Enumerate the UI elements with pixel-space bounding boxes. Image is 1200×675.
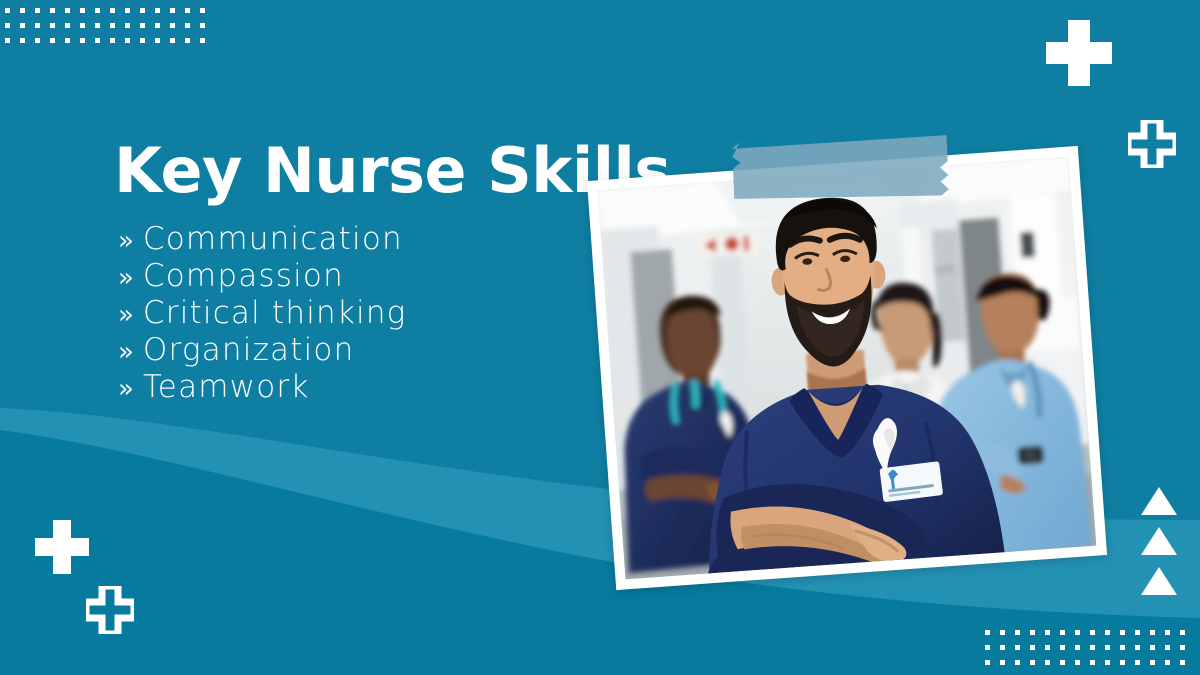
bullet-chevron-icon: »: [118, 372, 134, 407]
dot: [170, 38, 175, 43]
dot: [985, 630, 990, 635]
dot: [20, 38, 25, 43]
dot: [1105, 660, 1110, 665]
skill-item: »Critical thinking: [118, 296, 406, 333]
dot: [50, 23, 55, 28]
washi-tape: [732, 133, 950, 205]
dot: [1135, 630, 1140, 635]
dot: [50, 8, 55, 13]
dot: [1045, 645, 1050, 650]
dot-grid-top-left: [5, 8, 215, 53]
dot: [1060, 630, 1065, 635]
skill-item: »Compassion: [118, 259, 406, 296]
dot: [1180, 645, 1185, 650]
dot: [20, 23, 25, 28]
skill-item: »Teamwork: [118, 370, 406, 407]
dot: [5, 8, 10, 13]
dot: [140, 38, 145, 43]
dot: [1030, 660, 1035, 665]
dot: [1135, 645, 1140, 650]
dot: [1030, 645, 1035, 650]
cross-bar-vertical: [1068, 20, 1090, 86]
dot: [1000, 645, 1005, 650]
dot: [1045, 630, 1050, 635]
cross-outline-top-right-icon: [1128, 120, 1176, 168]
dot: [1150, 645, 1155, 650]
dot: [155, 38, 160, 43]
dot: [1030, 630, 1035, 635]
dot: [1105, 630, 1110, 635]
dot: [110, 23, 115, 28]
dot: [185, 8, 190, 13]
dot: [200, 8, 205, 13]
dot: [65, 23, 70, 28]
cross-outline-shape: [1128, 120, 1176, 168]
dot: [1120, 645, 1125, 650]
dot: [1015, 660, 1020, 665]
dot: [1075, 645, 1080, 650]
dot: [95, 23, 100, 28]
dot: [1165, 630, 1170, 635]
skill-item: »Communication: [118, 222, 406, 259]
bullet-chevron-icon: »: [118, 261, 134, 296]
dot: [1000, 630, 1005, 635]
dot: [20, 8, 25, 13]
dot: [5, 38, 10, 43]
cross-outline-bottom-left-icon: [86, 586, 134, 634]
dot: [200, 38, 205, 43]
dot: [125, 8, 130, 13]
dot: [110, 38, 115, 43]
dot: [1105, 645, 1110, 650]
cross-solid-bottom-left-icon: [35, 520, 89, 574]
cross-outline-shape: [86, 586, 134, 634]
dot: [1045, 660, 1050, 665]
dot: [1015, 645, 1020, 650]
skill-label: Critical thinking: [143, 296, 407, 331]
skill-label: Organization: [143, 333, 355, 368]
dot: [80, 8, 85, 13]
triangle-up-icon: [1141, 527, 1177, 555]
dot: [985, 660, 990, 665]
dot: [170, 8, 175, 13]
dot: [1090, 660, 1095, 665]
bullet-chevron-icon: »: [118, 298, 134, 333]
skill-label: Teamwork: [143, 370, 310, 405]
dot: [1060, 660, 1065, 665]
dot: [65, 38, 70, 43]
dot: [1180, 660, 1185, 665]
dot: [140, 23, 145, 28]
bullet-chevron-icon: »: [118, 224, 134, 259]
dot: [1150, 660, 1155, 665]
dot: [35, 8, 40, 13]
dot: [35, 38, 40, 43]
dot: [80, 23, 85, 28]
dot: [50, 38, 55, 43]
dot: [1165, 645, 1170, 650]
triangle-up-icon: [1141, 567, 1177, 595]
dot: [1120, 630, 1125, 635]
dot: [125, 23, 130, 28]
photo-card: [587, 146, 1107, 590]
dot: [5, 23, 10, 28]
dot: [1015, 630, 1020, 635]
dot: [35, 23, 40, 28]
slide-canvas: Key Nurse Skills »Communication»Compassi…: [0, 0, 1200, 675]
dot: [95, 8, 100, 13]
dot: [1075, 630, 1080, 635]
dot: [1075, 660, 1080, 665]
dot: [65, 8, 70, 13]
dot: [1090, 630, 1095, 635]
dot: [155, 8, 160, 13]
dot: [1000, 660, 1005, 665]
dot: [125, 38, 130, 43]
dot: [140, 8, 145, 13]
tape-shape: [732, 133, 950, 205]
photo-frame: [587, 146, 1107, 590]
dot: [1090, 645, 1095, 650]
dot: [80, 38, 85, 43]
dot: [185, 23, 190, 28]
dot: [200, 23, 205, 28]
dot: [185, 38, 190, 43]
skills-list: »Communication»Compassion»Critical think…: [118, 222, 406, 407]
dot: [1150, 630, 1155, 635]
bullet-chevron-icon: »: [118, 335, 134, 370]
photo-image: [598, 157, 1097, 580]
dot: [1180, 630, 1185, 635]
dot: [170, 23, 175, 28]
dot: [95, 38, 100, 43]
dot: [1135, 660, 1140, 665]
dot-grid-bottom-right: [985, 630, 1195, 675]
skill-label: Compassion: [143, 259, 344, 294]
cross-bar-vertical: [53, 520, 71, 574]
cross-solid-top-right-icon: [1046, 20, 1112, 86]
skill-item: »Organization: [118, 333, 406, 370]
dot: [1060, 645, 1065, 650]
dot: [1165, 660, 1170, 665]
dot: [1120, 660, 1125, 665]
triangle-up-icon: [1141, 487, 1177, 515]
skill-label: Communication: [143, 222, 403, 257]
dot: [985, 645, 990, 650]
dot: [110, 8, 115, 13]
hospital-corridor-illustration: [598, 157, 1097, 580]
dot: [155, 23, 160, 28]
